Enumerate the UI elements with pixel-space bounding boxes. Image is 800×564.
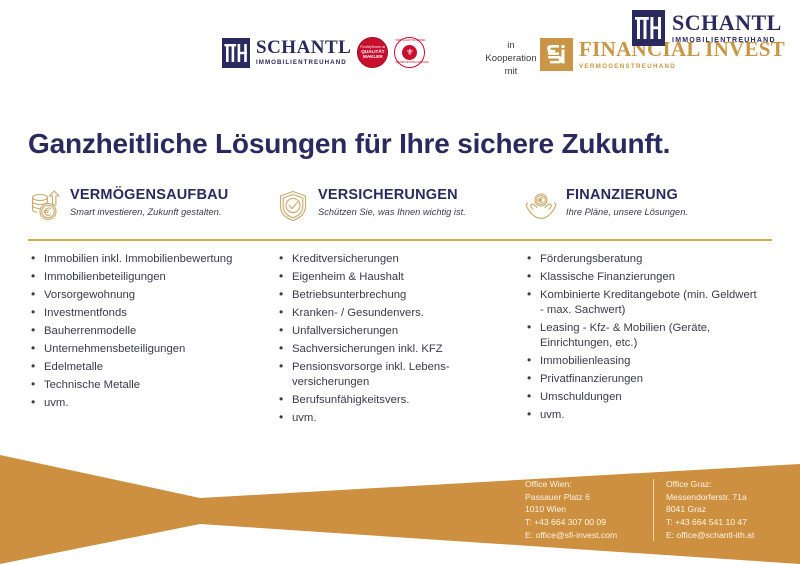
list-item: Immobilienleasing: [524, 354, 760, 369]
schantl-subtitle: IMMOBILIENTREUHAND: [256, 60, 351, 66]
service-item-list: FörderungsberatungKlassische Finanzierun…: [524, 252, 760, 423]
office-graz-street: Messendorferstr. 71a: [666, 491, 794, 504]
poster-root: SCHANTL IMMOBILIENTREUHAND FindMyHome.at…: [0, 0, 800, 564]
service-column-finanzierung: FINANZIERUNG Ihre Pläne, unsere Lösungen…: [524, 188, 772, 232]
list-item: Klassische Finanzierungen: [524, 270, 760, 285]
list-item: Pensionsvorsorge inkl. Lebens-versicheru…: [276, 360, 512, 390]
service-title: FINANZIERUNG: [566, 188, 688, 204]
schantl-wordmark: SCHANTL IMMOBILIENTREUHAND: [256, 38, 351, 66]
schantl-name: SCHANTL: [256, 38, 351, 57]
cooperation-line-2: Kooperation: [480, 53, 542, 66]
ith-monogram-icon: [222, 38, 250, 68]
list-item: Edelmetalle: [28, 360, 264, 375]
office-wien-title: Office Wien:: [525, 478, 653, 491]
logo-bar: SCHANTL IMMOBILIENTREUHAND FindMyHome.at…: [0, 0, 800, 100]
list-item: Kranken- / Gesundenvers.: [276, 306, 512, 321]
service-item-list: Immobilien inkl. ImmobilienbewertungImmo…: [28, 252, 264, 411]
coins-euro-growth-icon: [28, 189, 62, 223]
gold-divider: [28, 239, 772, 241]
list-item: Bauherrenmodelle: [28, 324, 264, 339]
office-wien-city: 1010 Wien: [525, 503, 653, 516]
service-title: VERSICHERUNGEN: [318, 188, 466, 204]
list-item: Eigenheim & Haushalt: [276, 270, 512, 285]
schantl-wordmark: SCHANTL IMMOBILIENTREUHAND: [672, 12, 782, 44]
office-graz-block: Office Graz: Messendorferstr. 71a 8041 G…: [654, 478, 794, 542]
service-tagline: Schützen Sie, was Ihnen wichtig ist.: [318, 207, 466, 218]
page-title: Ganzheitliche Lösungen für Ihre sichere …: [28, 128, 670, 160]
service-item-list: KreditversicherungenEigenheim & Haushalt…: [276, 252, 512, 426]
office-wien-block: Office Wien: Passauer Platz 6 1010 Wien …: [525, 478, 653, 542]
office-graz-title: Office Graz:: [666, 478, 794, 491]
office-graz-phone[interactable]: T: +43 664 541 10 47: [666, 516, 794, 529]
seal-red-line3: MAKLER: [363, 55, 383, 60]
seal-white-ring-top: WIRTSCHAFTSKAMMER: [395, 40, 424, 43]
list-item: Umschuldungen: [524, 390, 760, 405]
contact-divider: [653, 479, 654, 541]
list-item: Technische Metalle: [28, 378, 264, 393]
list-item: Betriebsunterbrechung: [276, 288, 512, 303]
list-item: Leasing - Kfz- & Mobilien (Geräte, Einri…: [524, 321, 760, 351]
qualitaetsmakler-seal-icon: FindMyHome.at QUALITÄT MAKLER: [357, 37, 388, 68]
schantl-name: SCHANTL: [672, 12, 782, 34]
ith-monogram-icon: [632, 10, 665, 46]
list-item: Unfallversicherungen: [276, 324, 512, 339]
office-wien-email[interactable]: E: office@sfi-invest.com: [525, 529, 653, 542]
cooperation-line-3: mit: [480, 66, 542, 79]
list-column-vermoegensaufbau: Immobilien inkl. ImmobilienbewertungImmo…: [28, 252, 276, 429]
cooperation-note: in Kooperation mit: [480, 40, 542, 78]
office-graz-email[interactable]: E: office@schantl-ith.at: [666, 529, 794, 542]
service-tagline: Ihre Pläne, unsere Lösungen.: [566, 207, 688, 218]
list-item: Investmentfonds: [28, 306, 264, 321]
list-item: Sachversicherungen inkl. KFZ: [276, 342, 512, 357]
service-title: VERMÖGENSAUFBAU: [70, 188, 228, 204]
service-column-vermoegensaufbau: VERMÖGENSAUFBAU Smart investieren, Zukun…: [28, 188, 276, 232]
cooperation-line-1: in: [480, 40, 542, 53]
list-item: Immobilienbeteiligungen: [28, 270, 264, 285]
list-item: uvm.: [524, 408, 760, 423]
schantl-subtitle: IMMOBILIENTREUHAND: [672, 37, 782, 44]
list-item: uvm.: [28, 396, 264, 411]
list-item: Unternehmensbeteiligungen: [28, 342, 264, 357]
service-lists: Immobilien inkl. ImmobilienbewertungImmo…: [28, 252, 772, 429]
service-tagline: Smart investieren, Zukunft gestalten.: [70, 207, 228, 218]
list-item: uvm.: [276, 411, 512, 426]
list-item: Immobilien inkl. Immobilienbewertung: [28, 252, 264, 267]
shield-check-icon: [276, 189, 310, 223]
sfi-monogram-icon: [540, 38, 573, 71]
service-column-versicherungen: VERSICHERUNGEN Schützen Sie, was Ihnen w…: [276, 188, 524, 232]
list-column-finanzierung: FörderungsberatungKlassische Finanzierun…: [524, 252, 772, 429]
list-column-versicherungen: KreditversicherungenEigenheim & Haushalt…: [276, 252, 524, 429]
schantl-logo-group-topright: SCHANTL IMMOBILIENTREUHAND: [632, 10, 782, 46]
list-item: Berufsunfähigkeitsvers.: [276, 393, 512, 408]
list-item: Privatfinanzierungen: [524, 372, 760, 387]
seal-white-ring-bottom: IMMOBILIENTREUHÄNDER: [395, 62, 424, 65]
schantl-logo-group-left: SCHANTL IMMOBILIENTREUHAND FindMyHome.at…: [222, 37, 425, 68]
hands-holding-coin-icon: [524, 189, 558, 223]
list-item: Kombinierte Kreditangebote (min. Geldwer…: [524, 288, 760, 318]
footer-contacts: Office Wien: Passauer Platz 6 1010 Wien …: [525, 478, 794, 542]
list-item: Vorsorgewohnung: [28, 288, 264, 303]
office-wien-street: Passauer Platz 6: [525, 491, 653, 504]
office-graz-city: 8041 Graz: [666, 503, 794, 516]
sfi-subtitle: VERMÖGENSTREUHAND: [579, 63, 785, 70]
service-column-headers: VERMÖGENSAUFBAU Smart investieren, Zukun…: [28, 188, 772, 232]
list-item: Kreditversicherungen: [276, 252, 512, 267]
office-wien-phone[interactable]: T: +43 664 307 00 09: [525, 516, 653, 529]
immobilientreuhaender-seal-icon: WIRTSCHAFTSKAMMER ⚜ IMMOBILIENTREUHÄNDER: [394, 37, 425, 68]
list-item: Förderungsberatung: [524, 252, 760, 267]
seal-white-crest: ⚜: [402, 45, 417, 60]
